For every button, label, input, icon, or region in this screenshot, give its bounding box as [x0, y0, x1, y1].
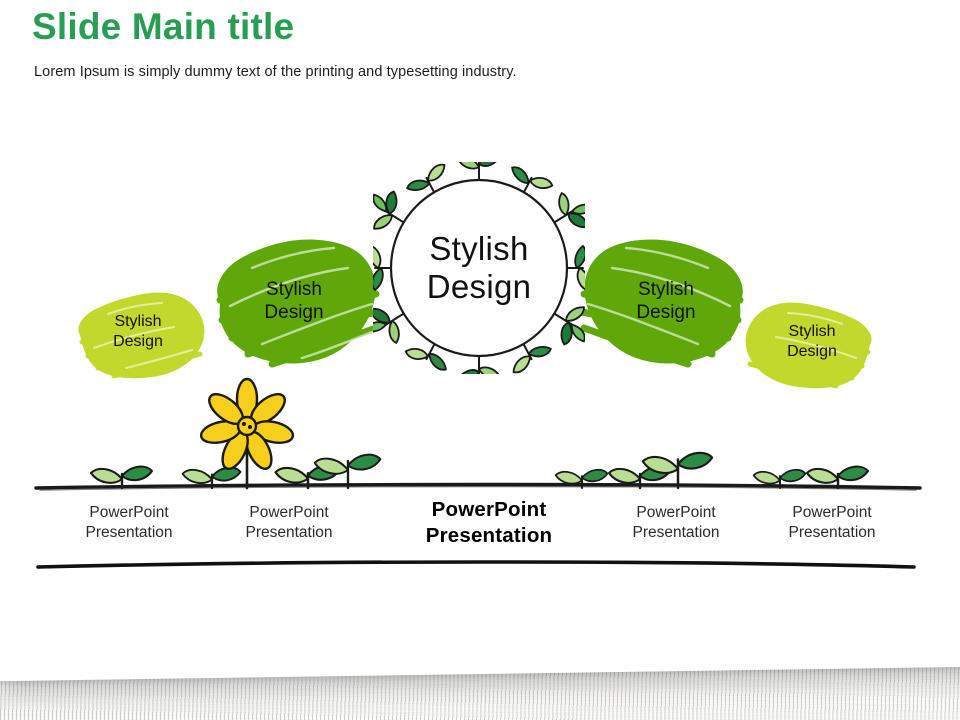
scribble-blob-shape	[578, 232, 754, 370]
node-3-label: Stylish Design	[373, 162, 585, 374]
page-subtitle: Lorem Ipsum is simply dummy text of the …	[34, 64, 517, 80]
node-2-caption: PowerPoint Presentation	[194, 503, 384, 543]
slide-canvas: Slide Main title Lorem Ipsum is simply d…	[0, 0, 960, 720]
scribble-blob-shape	[206, 232, 382, 370]
sprout-group-left	[91, 379, 380, 488]
node-3-caption: PowerPoint Presentation	[379, 497, 599, 549]
caption-bottom-rule	[34, 559, 918, 573]
node-2-blob[interactable]: Stylish Design	[206, 232, 382, 370]
slide-sheet: Slide Main title Lorem Ipsum is simply d…	[0, 0, 960, 681]
sprout-icon	[643, 453, 712, 488]
sprout-group-right	[556, 453, 868, 488]
node-4-blob[interactable]: Stylish Design	[578, 232, 754, 370]
node-3-circle[interactable]: Stylish Design	[373, 162, 585, 374]
plant-scene	[0, 364, 960, 504]
node-5-caption: PowerPoint Presentation	[737, 503, 927, 543]
page-title: Slide Main title	[32, 6, 294, 48]
caption-band: PowerPoint Presentation PowerPoint Prese…	[34, 489, 918, 567]
